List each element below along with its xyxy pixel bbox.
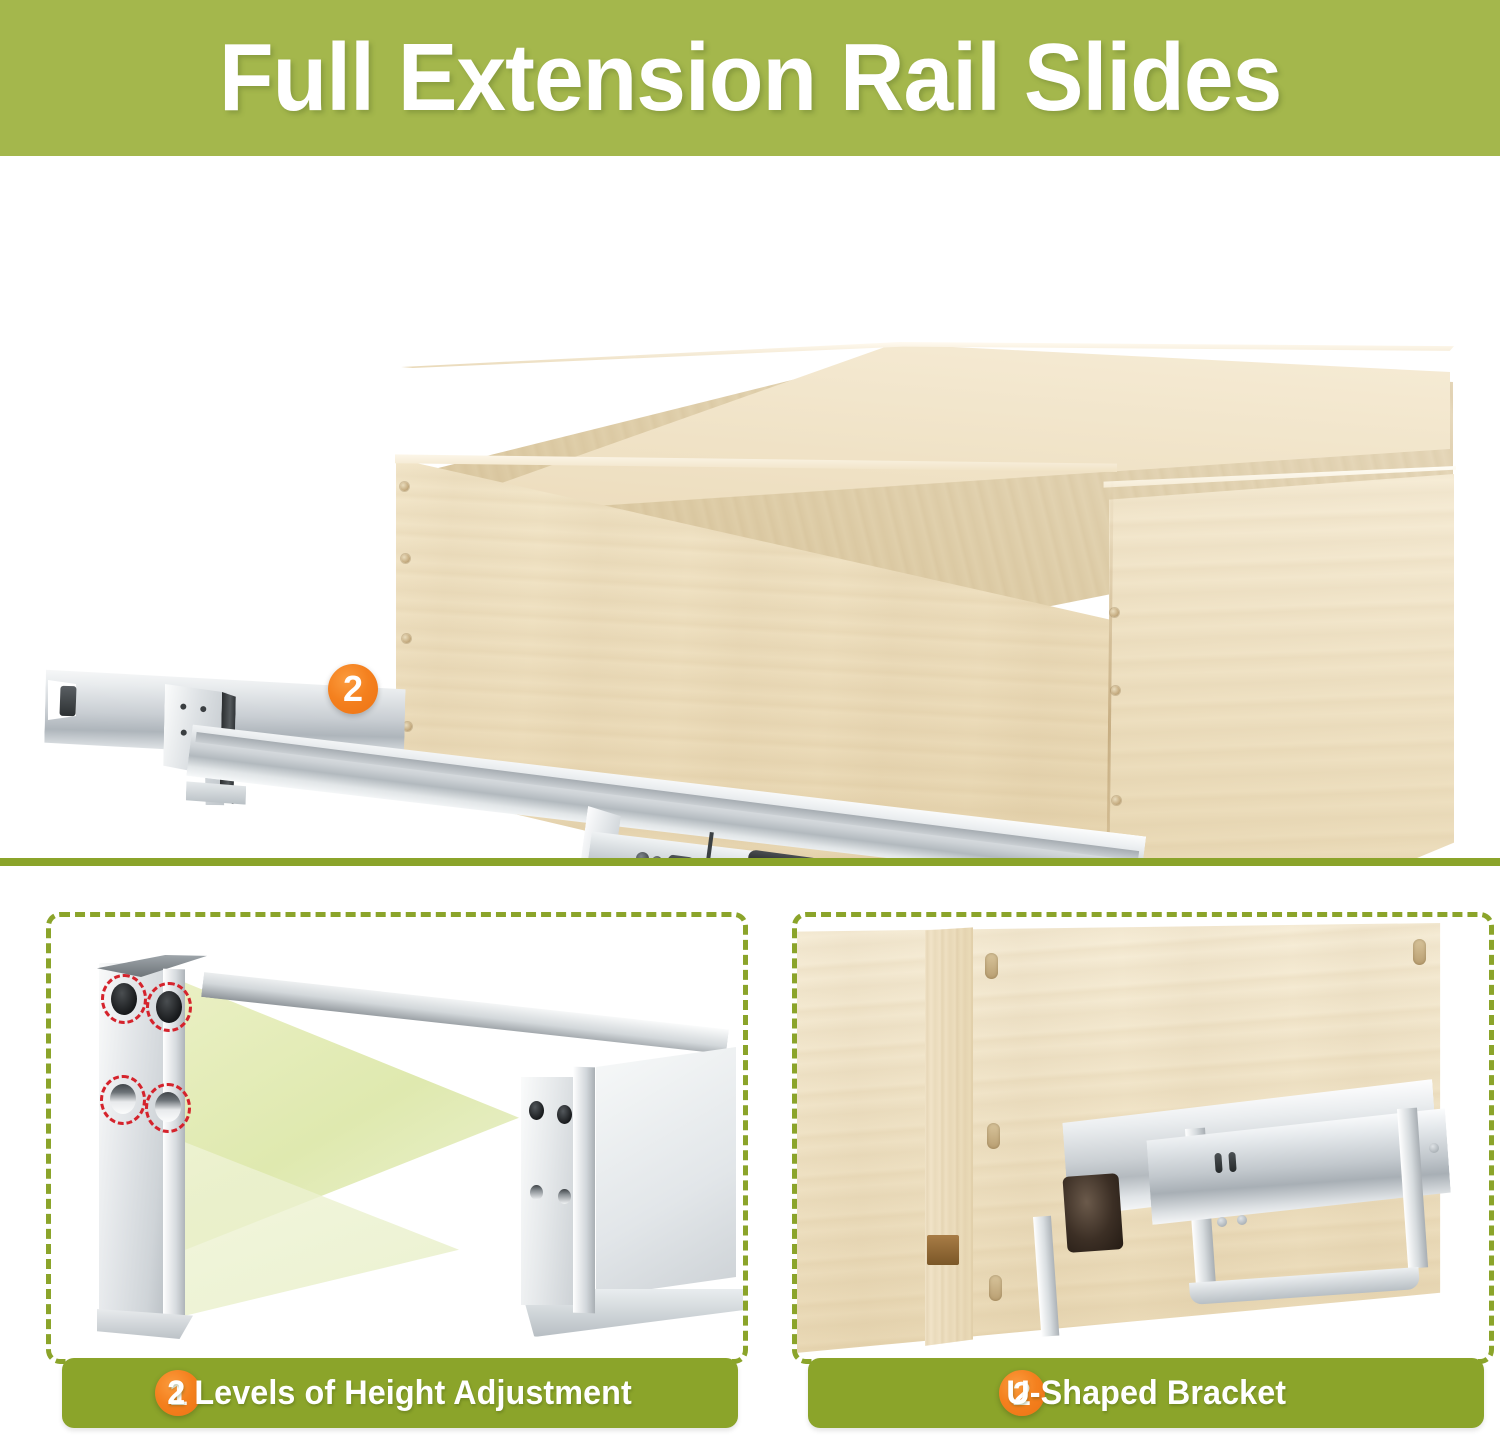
drawer-front-panel	[1102, 474, 1454, 862]
drawer-front-screw	[1111, 686, 1120, 695]
feature-label-content-2: 2 U-Shaped Bracket	[989, 1374, 1303, 1413]
bracket-back-plate	[596, 1047, 736, 1297]
bracket-inner-screw	[558, 1189, 571, 1204]
bracket-inner-hole	[529, 1101, 544, 1120]
u-shaped-bracket-illustration	[797, 917, 1489, 1359]
bracket-inner-screw	[530, 1185, 543, 1200]
section-divider	[0, 858, 1500, 866]
cam-lock-fitting	[1413, 939, 1426, 965]
feature-panel-1	[46, 912, 748, 1364]
cam-lock-fitting	[987, 1123, 1000, 1149]
hero-product-image: 2 1	[0, 156, 1500, 862]
mortise-slot	[927, 1235, 959, 1265]
bracket-inner-arm-edge	[573, 1067, 595, 1314]
feature-label-bar-1: 1 2 Levels of Height Adjustment	[62, 1358, 738, 1428]
height-adjustment-illustration	[51, 917, 743, 1359]
rail-screw	[1429, 1143, 1439, 1153]
drawer-front-screw	[1110, 608, 1119, 617]
adjustment-hole-highlight-ring	[146, 982, 192, 1032]
feature-caption-1: 2 Levels of Height Adjustment	[168, 1374, 633, 1413]
hero-illustration: 2 1	[0, 156, 1500, 862]
bearing-retainer	[1062, 1173, 1123, 1253]
cam-lock-fitting	[985, 953, 998, 979]
far-rail-bearing	[59, 686, 76, 717]
drawer-screw	[402, 634, 411, 643]
feature-panel-2	[792, 912, 1494, 1364]
rail-vent-slot	[1214, 1153, 1222, 1173]
rail-screw	[1217, 1217, 1227, 1227]
feature-label-bar-2: 2 U-Shaped Bracket	[808, 1358, 1484, 1428]
feature-caption-2: U-Shaped Bracket	[1006, 1374, 1286, 1413]
page-title: Full Extension Rail Slides	[219, 30, 1281, 126]
hero-callout-badge-2[interactable]: 2	[328, 664, 378, 714]
cam-lock-fitting	[989, 1275, 1002, 1301]
rail-screw	[1237, 1215, 1247, 1225]
adjustment-hole-highlight-ring	[145, 1083, 191, 1133]
adjustment-hole-highlight-ring	[100, 1075, 146, 1125]
bracket-inner-hole	[557, 1105, 572, 1124]
feature-label-content-1: 1 2 Levels of Height Adjustment	[145, 1374, 654, 1413]
drawer-screw	[401, 554, 410, 563]
drawer-front-screw	[1112, 796, 1121, 805]
far-rail-bracket-foot	[186, 781, 246, 804]
drawer-side-end-grain	[925, 924, 973, 1348]
header-banner: Full Extension Rail Slides	[0, 0, 1500, 156]
adjustment-hole-highlight-ring	[101, 974, 147, 1024]
rail-vent-slot	[1228, 1152, 1236, 1172]
drawer-screw	[400, 482, 409, 491]
